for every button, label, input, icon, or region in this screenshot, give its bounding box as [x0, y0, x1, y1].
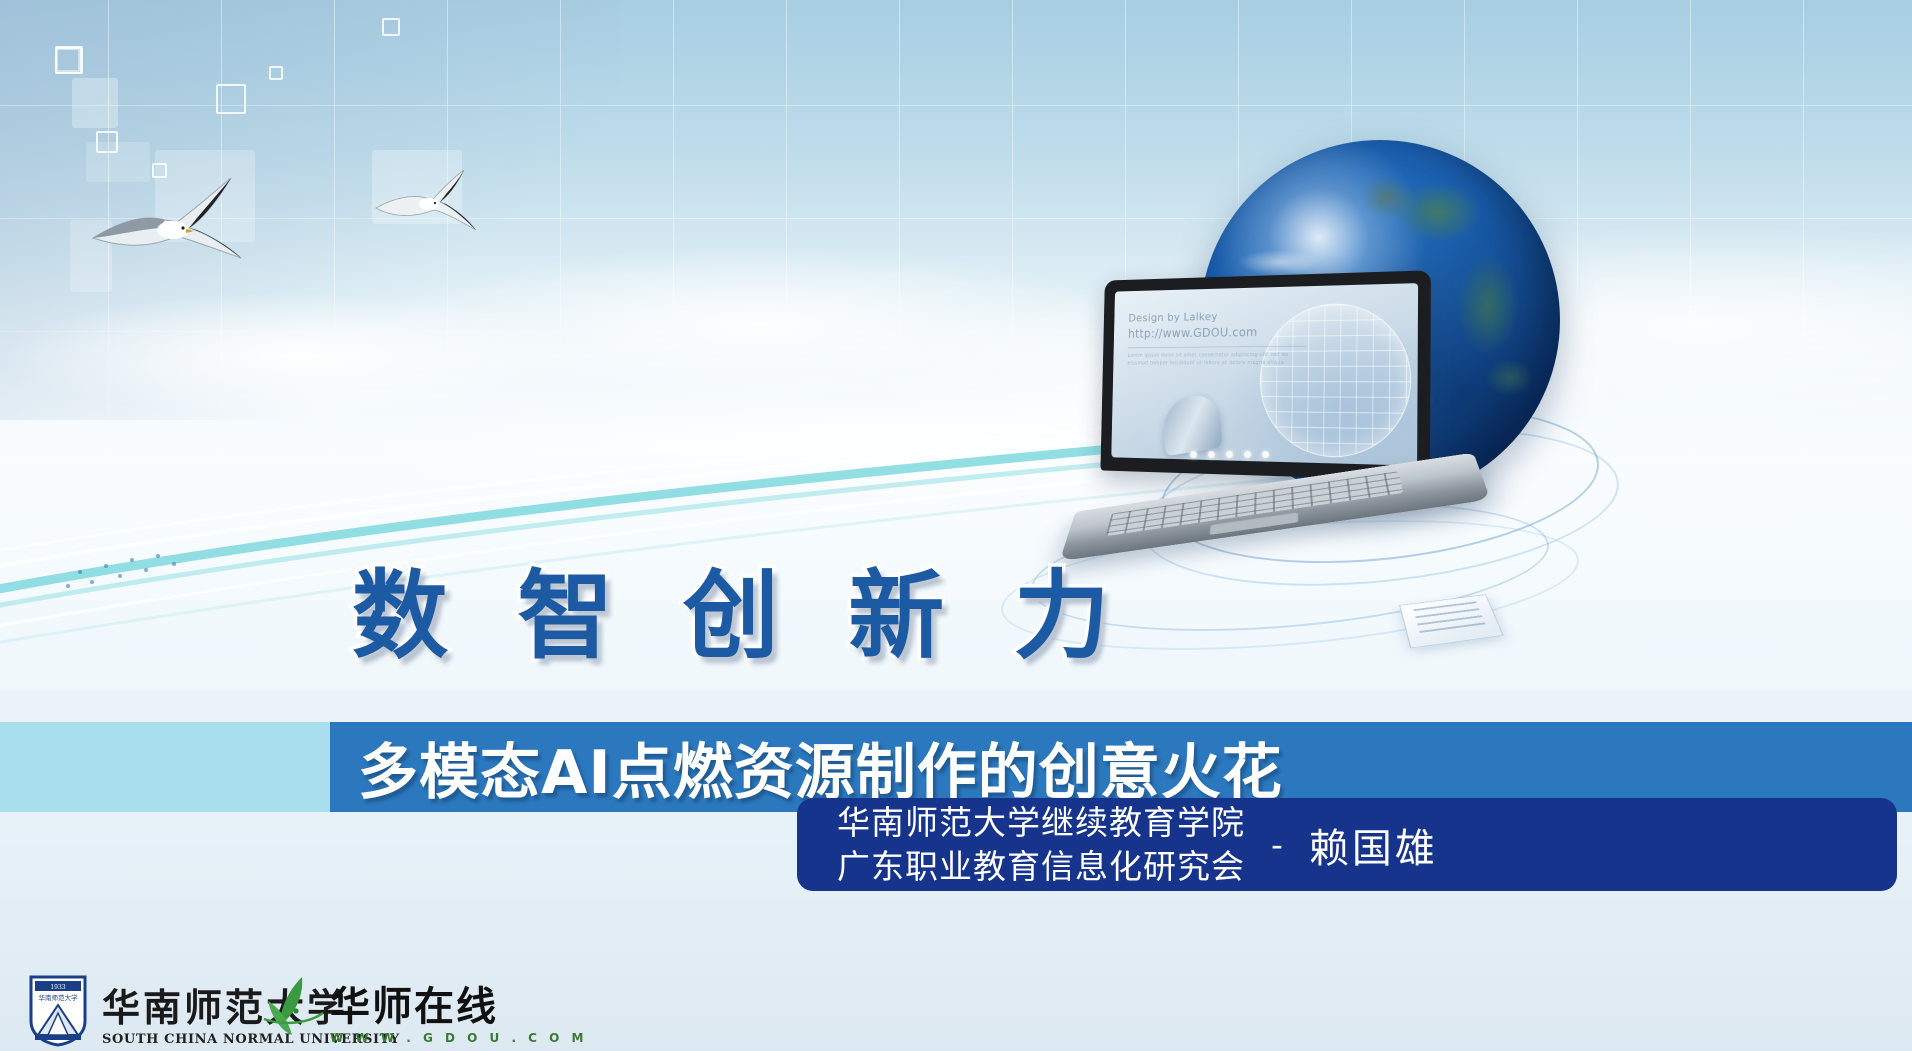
led-indicator — [1244, 451, 1251, 458]
presentation-slide: Design by Lalkey http://www.GDOU.com Lor… — [0, 0, 1912, 1051]
laptop-lid: Design by Lalkey http://www.GDOU.com Lor… — [1100, 270, 1430, 481]
status-led-row — [1190, 451, 1269, 458]
separator-dash: - — [1271, 825, 1283, 864]
led-indicator — [1226, 451, 1233, 458]
led-indicator — [1190, 451, 1197, 458]
huashi-name-cn: 华师在线 — [330, 987, 588, 1027]
decor-square — [216, 84, 246, 114]
speaker-name: 赖国雄 — [1309, 816, 1438, 874]
decor-square — [382, 18, 400, 36]
svg-text:1933: 1933 — [50, 984, 65, 991]
huashi-url: W W W . G D O U . C O M — [330, 1031, 588, 1045]
affiliation-line-2: 广东职业教育信息化研究会 — [837, 845, 1245, 889]
led-indicator — [1262, 451, 1269, 458]
decor-square — [269, 66, 283, 80]
seagull-icon — [372, 168, 480, 242]
led-indicator — [1208, 451, 1215, 458]
affiliation-line-1: 华南师范大学继续教育学院 — [837, 801, 1245, 845]
decor-square — [55, 47, 82, 74]
screen-caption: Design by Lalkey http://www.GDOU.com Lor… — [1127, 308, 1305, 367]
screen-ribbon-shape — [1163, 391, 1222, 456]
screen-caption-line2: http://www.GDOU.com — [1128, 323, 1306, 341]
huashi-wordmark: 华师在线 W W W . G D O U . C O M — [330, 987, 588, 1045]
affiliation-block: 华南师范大学继续教育学院 广东职业教育信息化研究会 — [837, 801, 1245, 888]
leaf-icon — [262, 975, 324, 1045]
document-line — [1419, 622, 1485, 633]
seagull-icon — [85, 170, 265, 280]
globe-laptop-artwork: Design by Lalkey http://www.GDOU.com Lor… — [1040, 110, 1640, 630]
logo-huashi-online: 华师在线 W W W . G D O U . C O M — [262, 975, 588, 1045]
screen-fine-print: Lorem ipsum dolor sit amet consectetur a… — [1127, 352, 1305, 368]
laptop-screen: Design by Lalkey http://www.GDOU.com Lor… — [1111, 283, 1418, 466]
decor-square-filled — [72, 78, 118, 128]
university-crest-icon: 1933 华南师范大学 — [28, 973, 88, 1047]
main-title: 数 智 创 新 力 — [352, 538, 1128, 677]
svg-text:华南师范大学: 华南师范大学 — [39, 993, 79, 1002]
presenter-box: 华南师范大学继续教育学院 广东职业教育信息化研究会 - 赖国雄 — [797, 798, 1897, 891]
footer-logo-bar: 1933 华南师范大学 华南师范大学 SOUTH CHINA NORMAL UN… — [0, 941, 1912, 1051]
screen-divider — [1128, 346, 1305, 349]
